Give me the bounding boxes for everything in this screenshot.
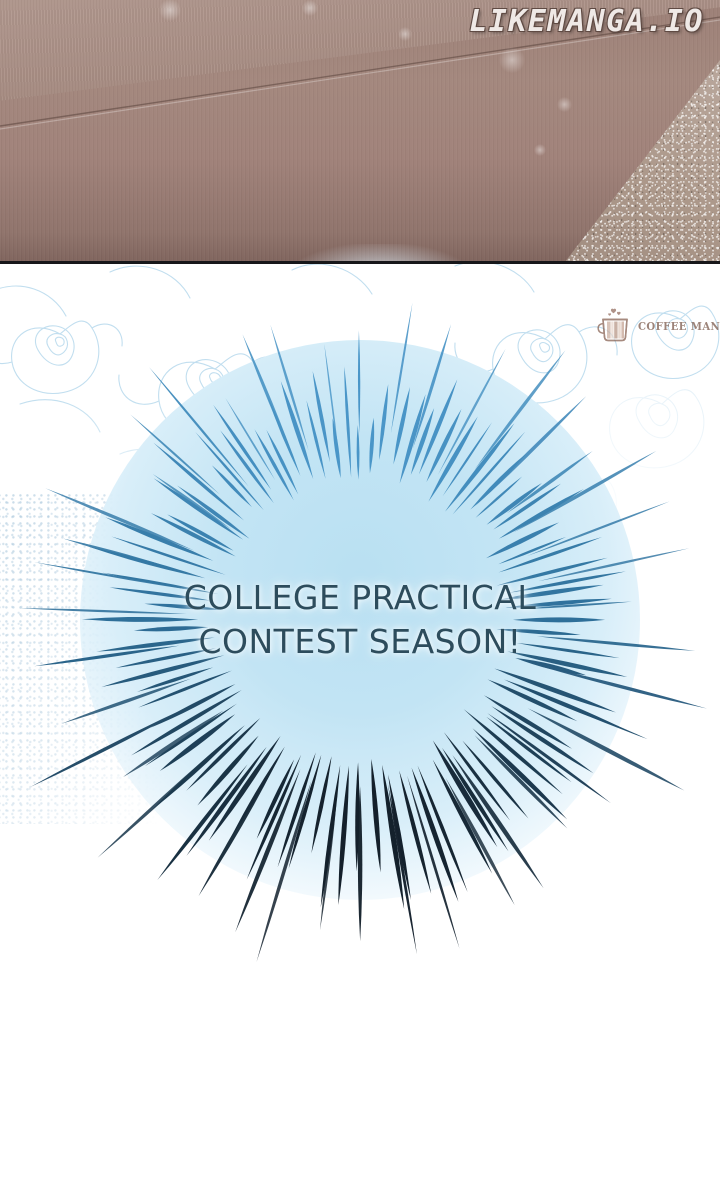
burst-spike-outer <box>475 735 568 828</box>
burst-spike <box>491 706 593 773</box>
burst-spike <box>209 736 281 841</box>
burst-spike <box>167 514 233 550</box>
coffee-manga-watermark: COFFEE MANGA <box>596 306 720 346</box>
burst-spike-outer <box>123 711 223 778</box>
burst-spike <box>137 667 213 692</box>
burst-spike <box>433 741 497 848</box>
burst-spike <box>289 755 322 869</box>
coffee-manga-label: COFFEE MANGA <box>638 320 720 333</box>
burst-spike <box>153 443 244 521</box>
burst-spike <box>153 725 245 809</box>
burst-spike-outer <box>157 764 247 880</box>
burst-spike <box>338 766 349 905</box>
rose-wallpaper <box>0 264 720 524</box>
caption-line-1: COLLEGE PRACTICAL <box>0 576 720 620</box>
burst-spike-outer <box>320 802 337 930</box>
burst-spike-outer <box>528 708 685 790</box>
burst-spike-outer <box>527 501 670 556</box>
burst-spike-outer <box>63 539 178 570</box>
burst-spike <box>399 771 431 894</box>
burst-spike <box>186 747 266 856</box>
burst-spike <box>453 432 526 515</box>
burst-spike-outer <box>388 784 417 954</box>
burst-spike <box>333 418 341 478</box>
burst-spike <box>462 741 528 819</box>
likemanga-watermark: LIKEMANGA.IO <box>469 4 704 39</box>
burst-spike <box>494 669 616 713</box>
burst-spike-outer <box>199 766 275 896</box>
burst-spike <box>464 709 563 794</box>
burst-spike <box>476 477 523 518</box>
burst-spike-outer <box>153 474 231 529</box>
burst-spike <box>486 522 559 558</box>
burst-spike-outer <box>446 778 515 905</box>
burst-spike <box>488 679 578 721</box>
burst-spike-outer <box>510 682 647 739</box>
burst-spike-outer <box>358 330 360 433</box>
burst-spike <box>88 547 205 579</box>
burst-spike-outer <box>61 679 191 724</box>
burst-spike <box>443 422 492 496</box>
burst-spike <box>369 418 374 474</box>
burst-spike <box>445 423 514 511</box>
burst-spike <box>499 489 584 539</box>
burst-spike <box>433 760 492 874</box>
burst-spike-outer <box>257 781 312 962</box>
burst-spike <box>278 752 316 867</box>
burst-spike-outer <box>514 451 656 532</box>
burst-spike-outer <box>413 324 451 448</box>
burst-spike-outer <box>97 732 236 858</box>
burst-spike-outer <box>507 451 592 513</box>
burst-spike <box>444 732 510 820</box>
burst-spike <box>267 395 301 476</box>
radial-impact-burst <box>0 264 720 1201</box>
burst-spike <box>504 680 625 730</box>
burst-spike-outer <box>358 786 362 941</box>
burst-spike <box>266 430 298 495</box>
burst-spike <box>498 537 602 573</box>
burst-spike <box>186 718 260 791</box>
burst-spike <box>321 765 341 908</box>
burst-spike <box>355 762 359 871</box>
panel-wooden-surface: LIKEMANGA.IO <box>0 0 720 264</box>
burst-spike <box>105 517 213 561</box>
burst-spike <box>160 714 235 771</box>
burst-spike <box>419 379 457 474</box>
burst-spike <box>195 432 264 510</box>
burst-spike <box>428 417 477 502</box>
burst-spike <box>388 774 411 900</box>
burst-spike <box>382 765 404 909</box>
burst-spike <box>411 408 434 475</box>
burst-spike <box>230 747 284 839</box>
burst-spike <box>131 690 242 755</box>
burst-spike <box>247 755 302 880</box>
coffee-cup-icon <box>596 306 636 346</box>
burst-spike <box>426 409 461 482</box>
burst-spike <box>498 537 566 564</box>
burst-spike <box>379 384 388 460</box>
burst-spike-outer <box>487 713 611 803</box>
burst-spike <box>487 483 542 525</box>
caption-text: COLLEGE PRACTICAL CONTEST SEASON! <box>0 576 720 663</box>
burst-spike-outer <box>453 755 544 888</box>
burst-spike <box>473 728 568 819</box>
burst-spike-outer <box>130 414 220 494</box>
burst-spike <box>220 430 274 503</box>
caption-line-2: CONTEST SEASON! <box>0 620 720 664</box>
burst-spike <box>470 454 526 510</box>
burst-spike <box>154 478 244 540</box>
burst-spike-outer <box>391 303 413 434</box>
burst-spike <box>493 484 561 530</box>
burst-spike-outer <box>438 349 506 475</box>
burst-spike <box>306 400 325 479</box>
burst-spike <box>254 429 293 500</box>
burst-spike <box>311 756 331 853</box>
burst-spike <box>357 425 360 480</box>
burst-spike <box>371 759 380 872</box>
burst-spike <box>177 485 249 538</box>
burst-spike-outer <box>475 396 586 506</box>
burst-spike <box>393 387 410 465</box>
burst-spike <box>442 748 509 852</box>
comic-page: LIKEMANGA.IO <box>0 0 720 1201</box>
burst-spike-outer <box>45 488 194 550</box>
burst-spike <box>281 381 314 479</box>
burst-spike <box>257 760 294 839</box>
burst-spike <box>344 366 351 477</box>
burst-spike-outer <box>149 367 249 486</box>
burst-spike-outer <box>30 704 193 787</box>
burst-spike <box>418 766 468 892</box>
burst-spike <box>145 704 237 766</box>
burst-spike-outer <box>225 398 275 480</box>
burst-spike-outer <box>536 665 707 709</box>
burst-spike <box>111 537 225 575</box>
burst-spike-outer <box>270 325 308 451</box>
burst-spike <box>313 371 330 462</box>
burst-spike <box>212 465 252 507</box>
burst-spike <box>486 717 571 782</box>
burst-spike <box>400 394 426 484</box>
panel-burst-title: COLLEGE PRACTICAL CONTEST SEASON! <box>0 264 720 1201</box>
burst-spike-outer <box>324 344 340 464</box>
burst-spike <box>151 684 236 728</box>
burst-spike <box>213 405 271 490</box>
burst-spike-outer <box>475 350 566 469</box>
burst-spike <box>138 671 232 708</box>
burst-spike <box>484 695 572 749</box>
burst-spike-outer <box>243 334 297 466</box>
burst-spike <box>151 513 236 556</box>
burst-spike <box>412 768 459 902</box>
burst-spike-outer <box>407 776 459 949</box>
burst-spike-outer <box>235 769 300 932</box>
burst-spike <box>197 736 258 806</box>
